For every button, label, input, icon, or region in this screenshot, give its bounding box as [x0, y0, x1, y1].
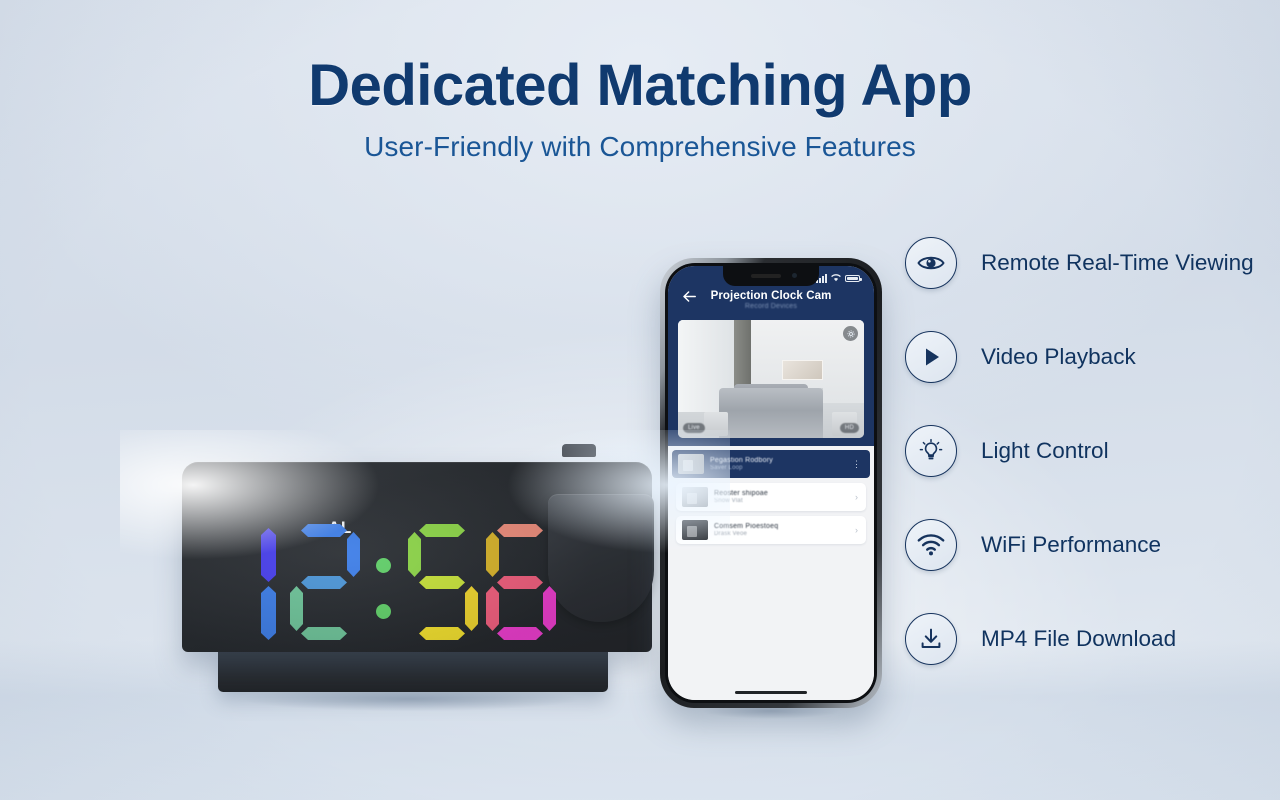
app-header-row: Projection Clock Cam	[678, 290, 864, 302]
camera-live-view[interactable]: Live HD	[678, 320, 864, 438]
earpiece-speaker-icon	[751, 274, 781, 278]
feature-label: Remote Real-Time Viewing	[981, 250, 1254, 276]
digit-hour-ones	[288, 524, 362, 640]
smartphone-mockup: Projection Clock Cam Record Devices	[660, 258, 882, 708]
recording-text: Reoster shipoae Snow Vlat	[714, 490, 855, 504]
settings-gear-icon[interactable]	[843, 326, 858, 341]
recording-subtitle: Saver Loop	[710, 465, 849, 471]
phone-screen: Projection Clock Cam Record Devices	[668, 266, 874, 700]
projector-knob[interactable]	[562, 444, 596, 457]
wifi-icon	[830, 269, 842, 287]
feature-item-remote-viewing[interactable]: Remote Real-Time Viewing	[905, 216, 1275, 310]
recording-title: Reoster shipoae	[714, 490, 855, 497]
feature-list: Remote Real-Time Viewing Video Playback …	[905, 216, 1275, 686]
projector-arm[interactable]	[548, 494, 654, 622]
list-item[interactable]: Reoster shipoae Snow Vlat ›	[676, 483, 866, 511]
clock-base-stand	[218, 646, 608, 692]
recording-title: Comsem Pioestoeq	[714, 523, 855, 530]
feature-label: WiFi Performance	[981, 532, 1161, 558]
projection-clock-device: AL	[160, 420, 690, 720]
feature-label: Video Playback	[981, 344, 1136, 370]
eye-icon	[905, 237, 957, 289]
list-item[interactable]: Comsem Pioestoeq Drask Veoe ›	[676, 516, 866, 544]
heading-block: Dedicated Matching App User-Friendly wit…	[0, 52, 1280, 163]
app-subtitle: Record Devices	[678, 303, 864, 310]
camera-badge-left: Live	[683, 423, 705, 433]
app-title: Projection Clock Cam	[700, 290, 842, 302]
digit-minute-tens	[406, 524, 480, 640]
clock-display	[244, 524, 562, 640]
feature-label: Light Control	[981, 438, 1109, 464]
recording-text: Pegastion Rodbory Saver Loop	[710, 457, 849, 471]
clock-body: AL	[182, 462, 652, 652]
recording-thumbnail	[682, 487, 708, 507]
wall-art	[782, 360, 823, 380]
feature-item-light-control[interactable]: Light Control	[905, 404, 1275, 498]
battery-icon	[845, 275, 860, 282]
phone-inner-bezel: Projection Clock Cam Record Devices	[665, 263, 877, 703]
wifi-icon	[905, 519, 957, 571]
recording-text: Comsem Pioestoeq Drask Veoe	[714, 523, 855, 537]
recording-thumbnail	[682, 520, 708, 540]
clock-colon	[366, 524, 406, 640]
recording-subtitle: Drask Veoe	[714, 531, 855, 537]
feature-item-mp4-download[interactable]: MP4 File Download	[905, 592, 1275, 686]
digit-hour-tens	[244, 524, 284, 640]
phone-notch	[723, 266, 819, 286]
chevron-right-icon[interactable]: ›	[855, 492, 860, 502]
digit-minute-ones	[484, 524, 558, 640]
nightstand-left	[704, 412, 728, 436]
feature-label: MP4 File Download	[981, 626, 1176, 652]
home-indicator[interactable]	[668, 684, 874, 700]
lightbulb-icon	[905, 425, 957, 477]
more-options-icon[interactable]: ⋮	[849, 461, 864, 468]
play-icon	[905, 331, 957, 383]
phone-frame: Projection Clock Cam Record Devices	[660, 258, 882, 708]
feature-item-wifi-performance[interactable]: WiFi Performance	[905, 498, 1275, 592]
bed	[719, 388, 823, 438]
chevron-right-icon[interactable]: ›	[855, 525, 860, 535]
recording-subtitle: Snow Vlat	[714, 498, 855, 504]
front-camera-icon	[792, 273, 797, 278]
back-arrow-icon[interactable]	[678, 291, 700, 302]
download-icon	[905, 613, 957, 665]
recordings-list: Pegastion Rodbory Saver Loop ⋮ Reoster s…	[668, 446, 874, 684]
recording-thumbnail	[678, 454, 704, 474]
page-subtitle: User-Friendly with Comprehensive Feature…	[0, 131, 1280, 163]
list-item[interactable]: Pegastion Rodbory Saver Loop ⋮	[672, 450, 870, 478]
camera-badge-right: HD	[840, 423, 859, 433]
room-scene-image	[678, 320, 864, 438]
page-title: Dedicated Matching App	[0, 52, 1280, 119]
feature-item-video-playback[interactable]: Video Playback	[905, 310, 1275, 404]
recording-title: Pegastion Rodbory	[710, 457, 849, 464]
